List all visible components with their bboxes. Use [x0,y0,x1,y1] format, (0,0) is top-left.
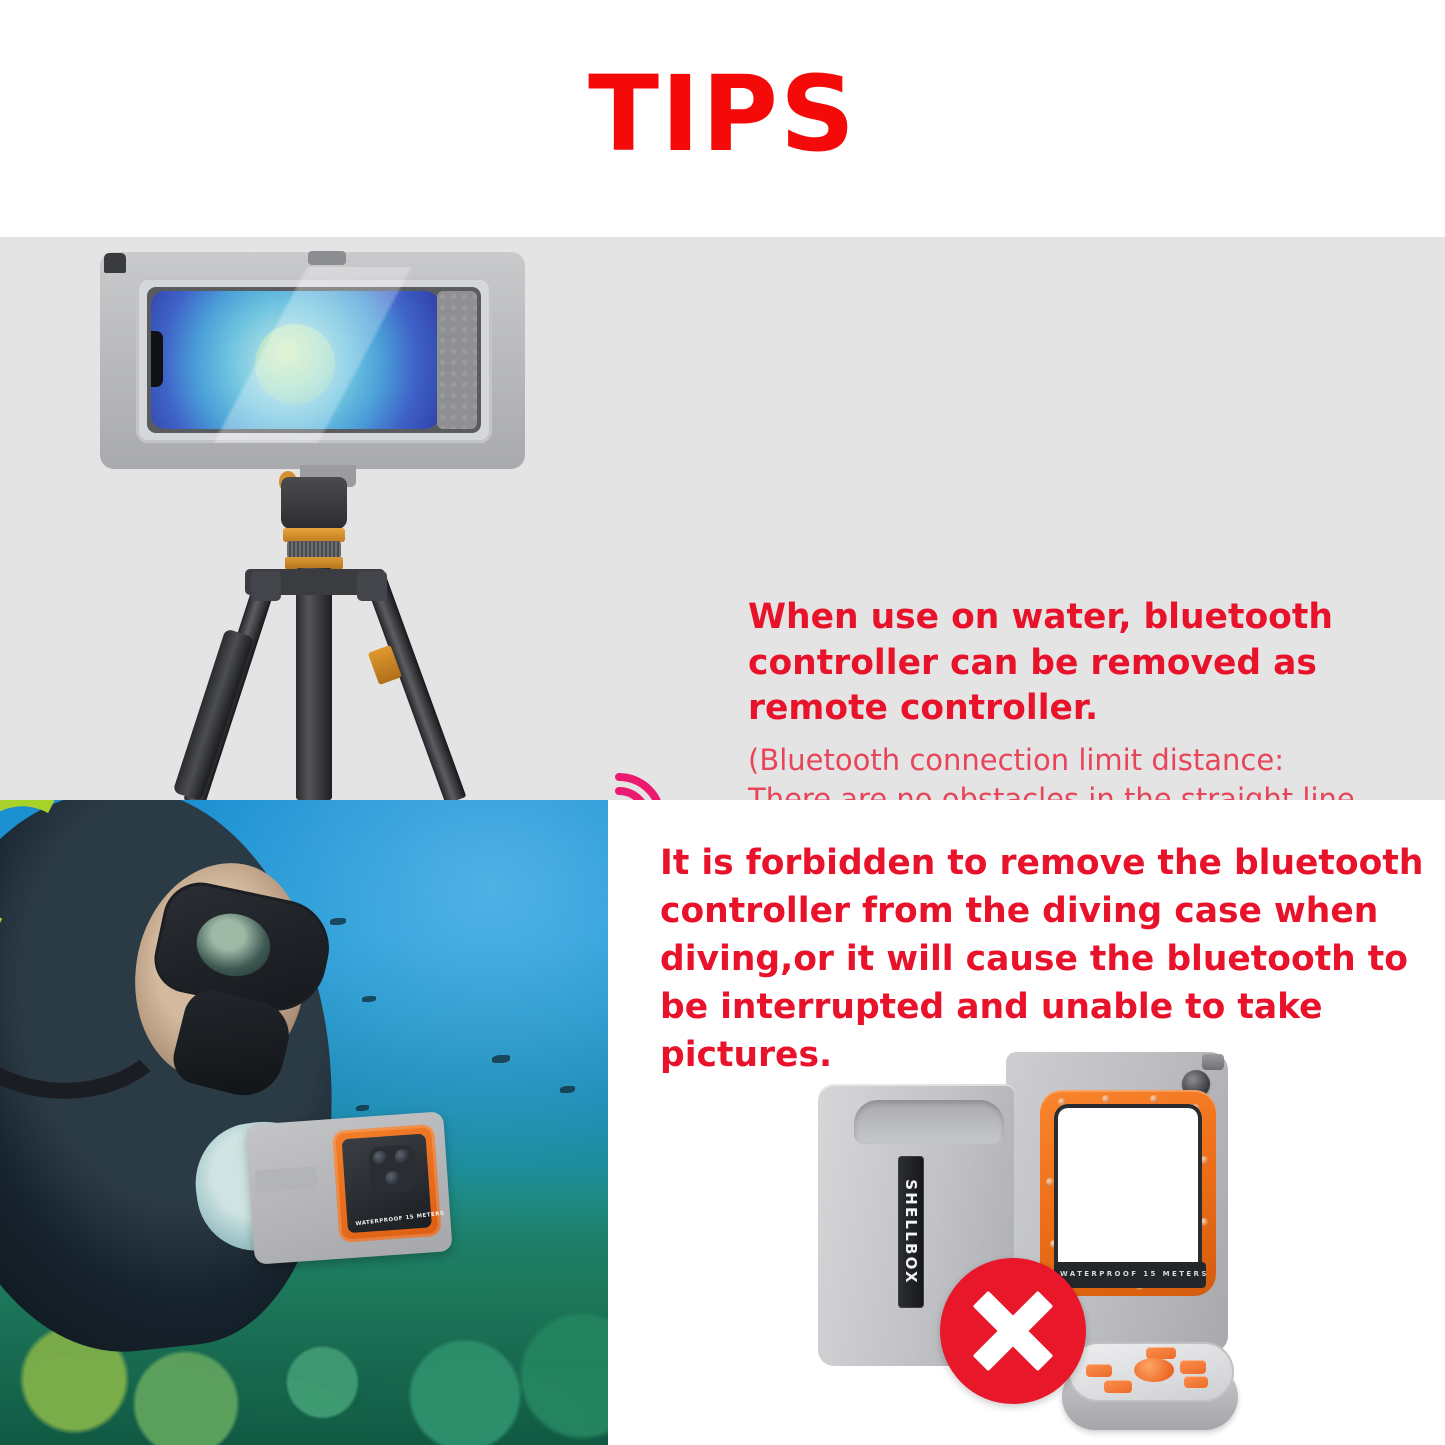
case-hex-texture [437,291,477,429]
bezel-screw-icon [1050,1240,1058,1248]
diving-case-with-detached-remote-illustration: WATERPROOF 15 METERS SHELLBOX [800,1040,1250,1440]
fish [362,996,376,1002]
tip-on-water-panel: When use on water, bluetooth controller … [0,237,1445,800]
bezel-screw-icon [1150,1095,1158,1103]
phone-screen [151,291,439,429]
bezel-screw-icon [1046,1178,1054,1186]
remote-dock-slot [854,1100,1004,1144]
bezel-screw-icon [1192,1104,1200,1112]
tripod-gold-band-upper [283,528,345,542]
bezel-screw-icon [1200,1218,1208,1226]
detached-bluetooth-remote [1062,1336,1242,1440]
page-title: TIPS [0,62,1445,166]
bezel-screw-icon [1058,1098,1066,1106]
tip-forbidden-diving-panel: WATERPROOF 15 METERS It is forbidden to … [0,800,1445,1445]
case-side-knob-icon [1202,1054,1224,1070]
detached-remote-shutter-icon [1134,1358,1174,1382]
diver-mask-lens [191,907,276,983]
title-bar: TIPS [0,0,1445,237]
fish [356,1105,369,1111]
underwater-case-window: WATERPROOF 15 METERS [342,1134,432,1234]
brand-plate: SHELLBOX [898,1156,924,1308]
scuba-diver-with-diving-case-photo: WATERPROOF 15 METERS [0,800,608,1445]
tripod-clamp-left [251,571,281,601]
fish [330,918,346,925]
underwater-case-marking: WATERPROOF 15 METERS [355,1213,423,1227]
tip-on-water-headline: When use on water, bluetooth controller … [748,595,1368,732]
tripod-knurled-collar [287,541,341,558]
detached-remote-top [1068,1342,1234,1402]
case-marking-bar: WATERPROOF 15 METERS [1054,1262,1206,1288]
camera-lens-icon [394,1149,410,1165]
bezel-screw-icon [1200,1156,1208,1164]
detached-remote-button-bottom-icon [1104,1380,1132,1393]
case-window [147,287,481,433]
fish [560,1086,575,1093]
detached-remote-button-right-icon [1180,1360,1206,1374]
detached-remote-button-right2-icon [1184,1376,1208,1388]
case-marking-text: WATERPROOF 15 METERS [1060,1270,1206,1278]
camera-lens-icon [385,1170,401,1186]
detached-remote-button-left-icon [1086,1364,1112,1377]
case-top-nub [308,251,346,265]
phone-notch [151,331,163,387]
phone-camera-module-icon [368,1144,417,1193]
case-inner-ring [136,277,492,443]
tripod-leg-right [364,571,467,804]
phone-case-on-tripod-illustration [85,245,545,800]
bezel-screw-icon [1102,1095,1110,1103]
brand-label: SHELLBOX [902,1179,920,1285]
fish [492,1055,510,1063]
underwater-case-grip [255,1166,318,1192]
waterproof-case-body [100,251,525,469]
underwater-case-orange-bezel: WATERPROOF 15 METERS [332,1124,442,1243]
forbidden-x-badge [940,1258,1086,1404]
underwater-diving-case: WATERPROOF 15 METERS [245,1111,452,1264]
tripod-clamp-right [357,571,387,601]
tripod-center-column [296,568,332,800]
tripod-ball-head [281,477,347,529]
camera-lens-icon [372,1150,388,1166]
case-lock-knob-icon [104,253,126,273]
